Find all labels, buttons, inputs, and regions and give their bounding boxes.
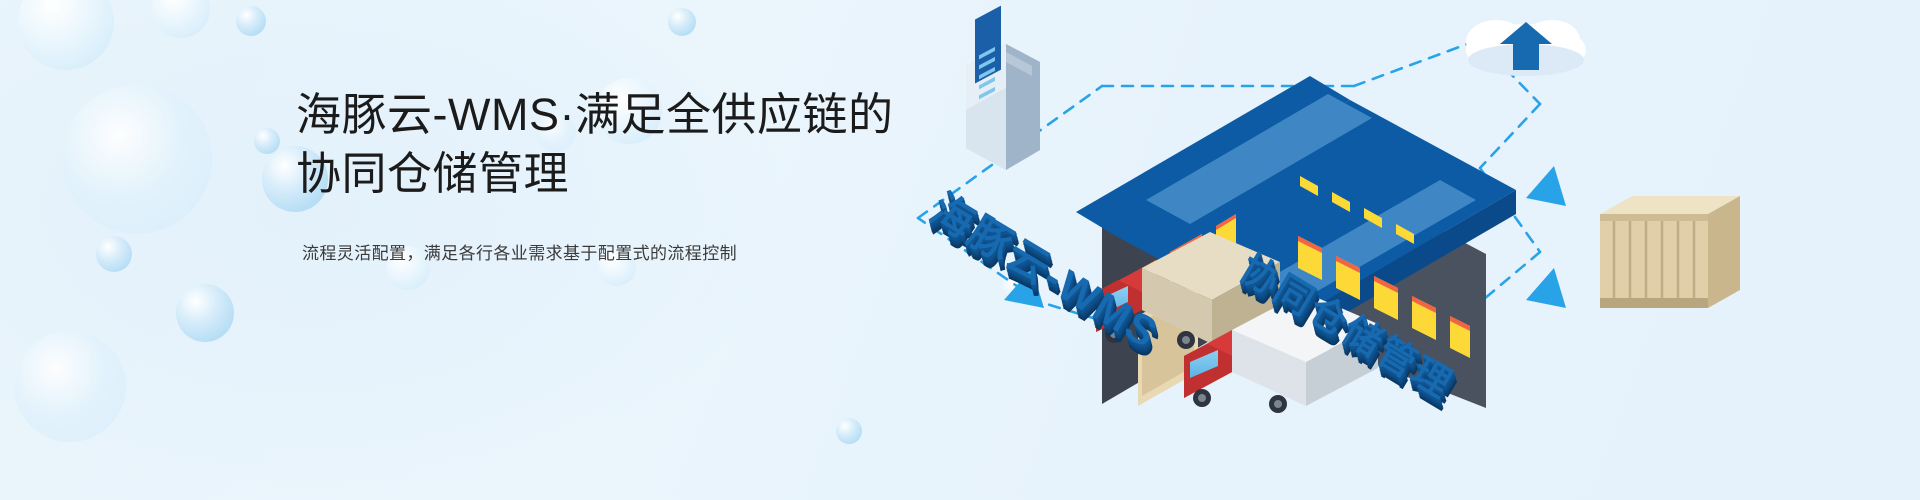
shipping-container bbox=[1600, 196, 1740, 308]
decorative-bubble bbox=[668, 8, 696, 36]
cloud-upload-icon bbox=[1466, 20, 1586, 76]
decorative-bubble bbox=[96, 236, 132, 272]
promo-banner: 海豚云-WMS·满足全供应链的 协同仓储管理 流程灵活配置，满足各行各业需求基于… bbox=[0, 0, 1920, 500]
decorative-bubble bbox=[14, 330, 126, 442]
server-rack bbox=[966, 6, 1040, 170]
decorative-bubble bbox=[176, 284, 234, 342]
decorative-bubble bbox=[236, 6, 266, 36]
decorative-bubble bbox=[18, 0, 114, 70]
decorative-bubble bbox=[836, 418, 862, 444]
decorative-bubble bbox=[152, 0, 210, 38]
decorative-bubble bbox=[62, 84, 212, 234]
warehouse-illustration: 海豚云-WMS 协同仓储管理 bbox=[880, 0, 1920, 500]
decorative-bubble bbox=[254, 128, 280, 154]
